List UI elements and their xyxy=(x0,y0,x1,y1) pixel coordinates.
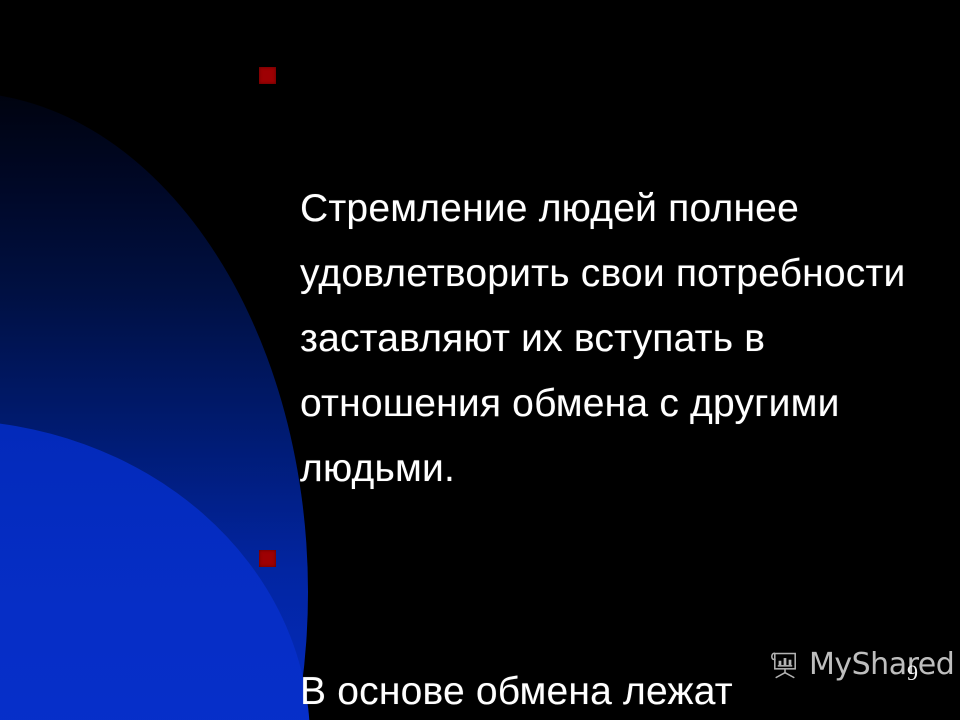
bullet-text: Стремление людей полнее удовлетворить св… xyxy=(300,187,906,490)
page-number: 9 xyxy=(907,662,918,684)
slide-canvas: Стремление людей полнее удовлетворить св… xyxy=(0,0,960,720)
square-bullet-icon xyxy=(259,67,276,84)
slide-body: Стремление людей полнее удовлетворить св… xyxy=(255,46,945,720)
list-item: В основе обмена лежат специализация и ра… xyxy=(255,529,945,720)
bullet-text: В основе обмена лежат специализация и ра… xyxy=(300,670,839,720)
square-bullet-icon xyxy=(259,550,276,567)
list-item: Стремление людей полнее удовлетворить св… xyxy=(255,46,945,501)
